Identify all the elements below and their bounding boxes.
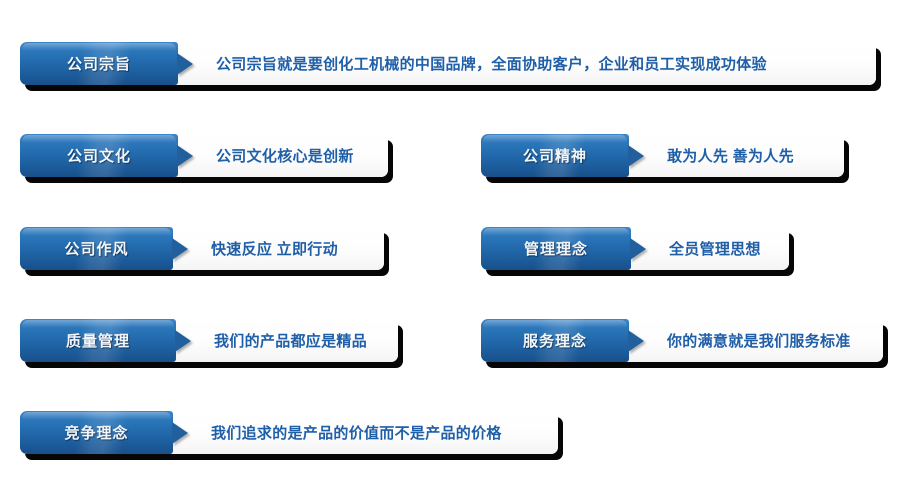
arrow-right-icon: [175, 330, 191, 352]
callout-card[interactable]: 服务理念你的满意就是我们服务标准: [481, 319, 883, 362]
callout-card[interactable]: 公司宗旨公司宗旨就是要创化工机械的中国品牌，全面协助客户，企业和员工实现成功体验: [20, 42, 876, 85]
callout-card[interactable]: 公司作风快速反应 立即行动: [20, 227, 384, 270]
arrow-right-icon: [177, 53, 193, 75]
callout-body-text: 我们追求的是产品的价值而不是产品的价格: [211, 411, 502, 454]
callout-label-block[interactable]: 公司宗旨: [20, 42, 178, 85]
callout-label-block[interactable]: 质量管理: [20, 319, 176, 362]
callout-label-block[interactable]: 管理理念: [481, 227, 631, 270]
callout-label-block[interactable]: 公司精神: [481, 134, 629, 177]
callout-body-text: 你的满意就是我们服务标准: [667, 319, 851, 362]
callout-label-text: 竞争理念: [64, 422, 128, 443]
callout-label-block[interactable]: 公司作风: [20, 227, 173, 270]
callout-body-text: 快速反应 立即行动: [211, 227, 338, 270]
callout-label-block[interactable]: 竞争理念: [20, 411, 173, 454]
callout-label-text: 公司文化: [67, 145, 131, 166]
callout-label-text: 公司精神: [523, 145, 587, 166]
callout-body-text: 公司文化核心是创新: [216, 134, 354, 177]
callout-card[interactable]: 竞争理念我们追求的是产品的价值而不是产品的价格: [20, 411, 558, 454]
callout-label-block[interactable]: 公司文化: [20, 134, 178, 177]
callout-card[interactable]: 公司精神敢为人先 善为人先: [481, 134, 844, 177]
arrow-right-icon: [172, 422, 188, 444]
callout-card[interactable]: 管理理念全员管理思想: [481, 227, 789, 270]
arrow-right-icon: [628, 145, 644, 167]
arrow-right-icon: [172, 238, 188, 260]
callout-label-text: 公司宗旨: [67, 53, 131, 74]
callout-body-text: 公司宗旨就是要创化工机械的中国品牌，全面协助客户，企业和员工实现成功体验: [216, 42, 767, 85]
callout-body-text: 敢为人先 善为人先: [667, 134, 794, 177]
arrow-right-icon: [630, 238, 646, 260]
callout-body-text: 我们的产品都应是精品: [214, 319, 367, 362]
callout-label-block[interactable]: 服务理念: [481, 319, 629, 362]
callout-label-text: 质量管理: [66, 330, 130, 351]
arrow-right-icon: [628, 330, 644, 352]
callout-label-text: 公司作风: [64, 238, 128, 259]
callout-body-text: 全员管理思想: [669, 227, 761, 270]
callout-board: 公司宗旨公司宗旨就是要创化工机械的中国品牌，全面协助客户，企业和员工实现成功体验…: [0, 0, 900, 500]
callout-card[interactable]: 公司文化公司文化核心是创新: [20, 134, 388, 177]
callout-label-text: 管理理念: [524, 238, 588, 259]
callout-card[interactable]: 质量管理我们的产品都应是精品: [20, 319, 398, 362]
callout-label-text: 服务理念: [523, 330, 587, 351]
arrow-right-icon: [177, 145, 193, 167]
